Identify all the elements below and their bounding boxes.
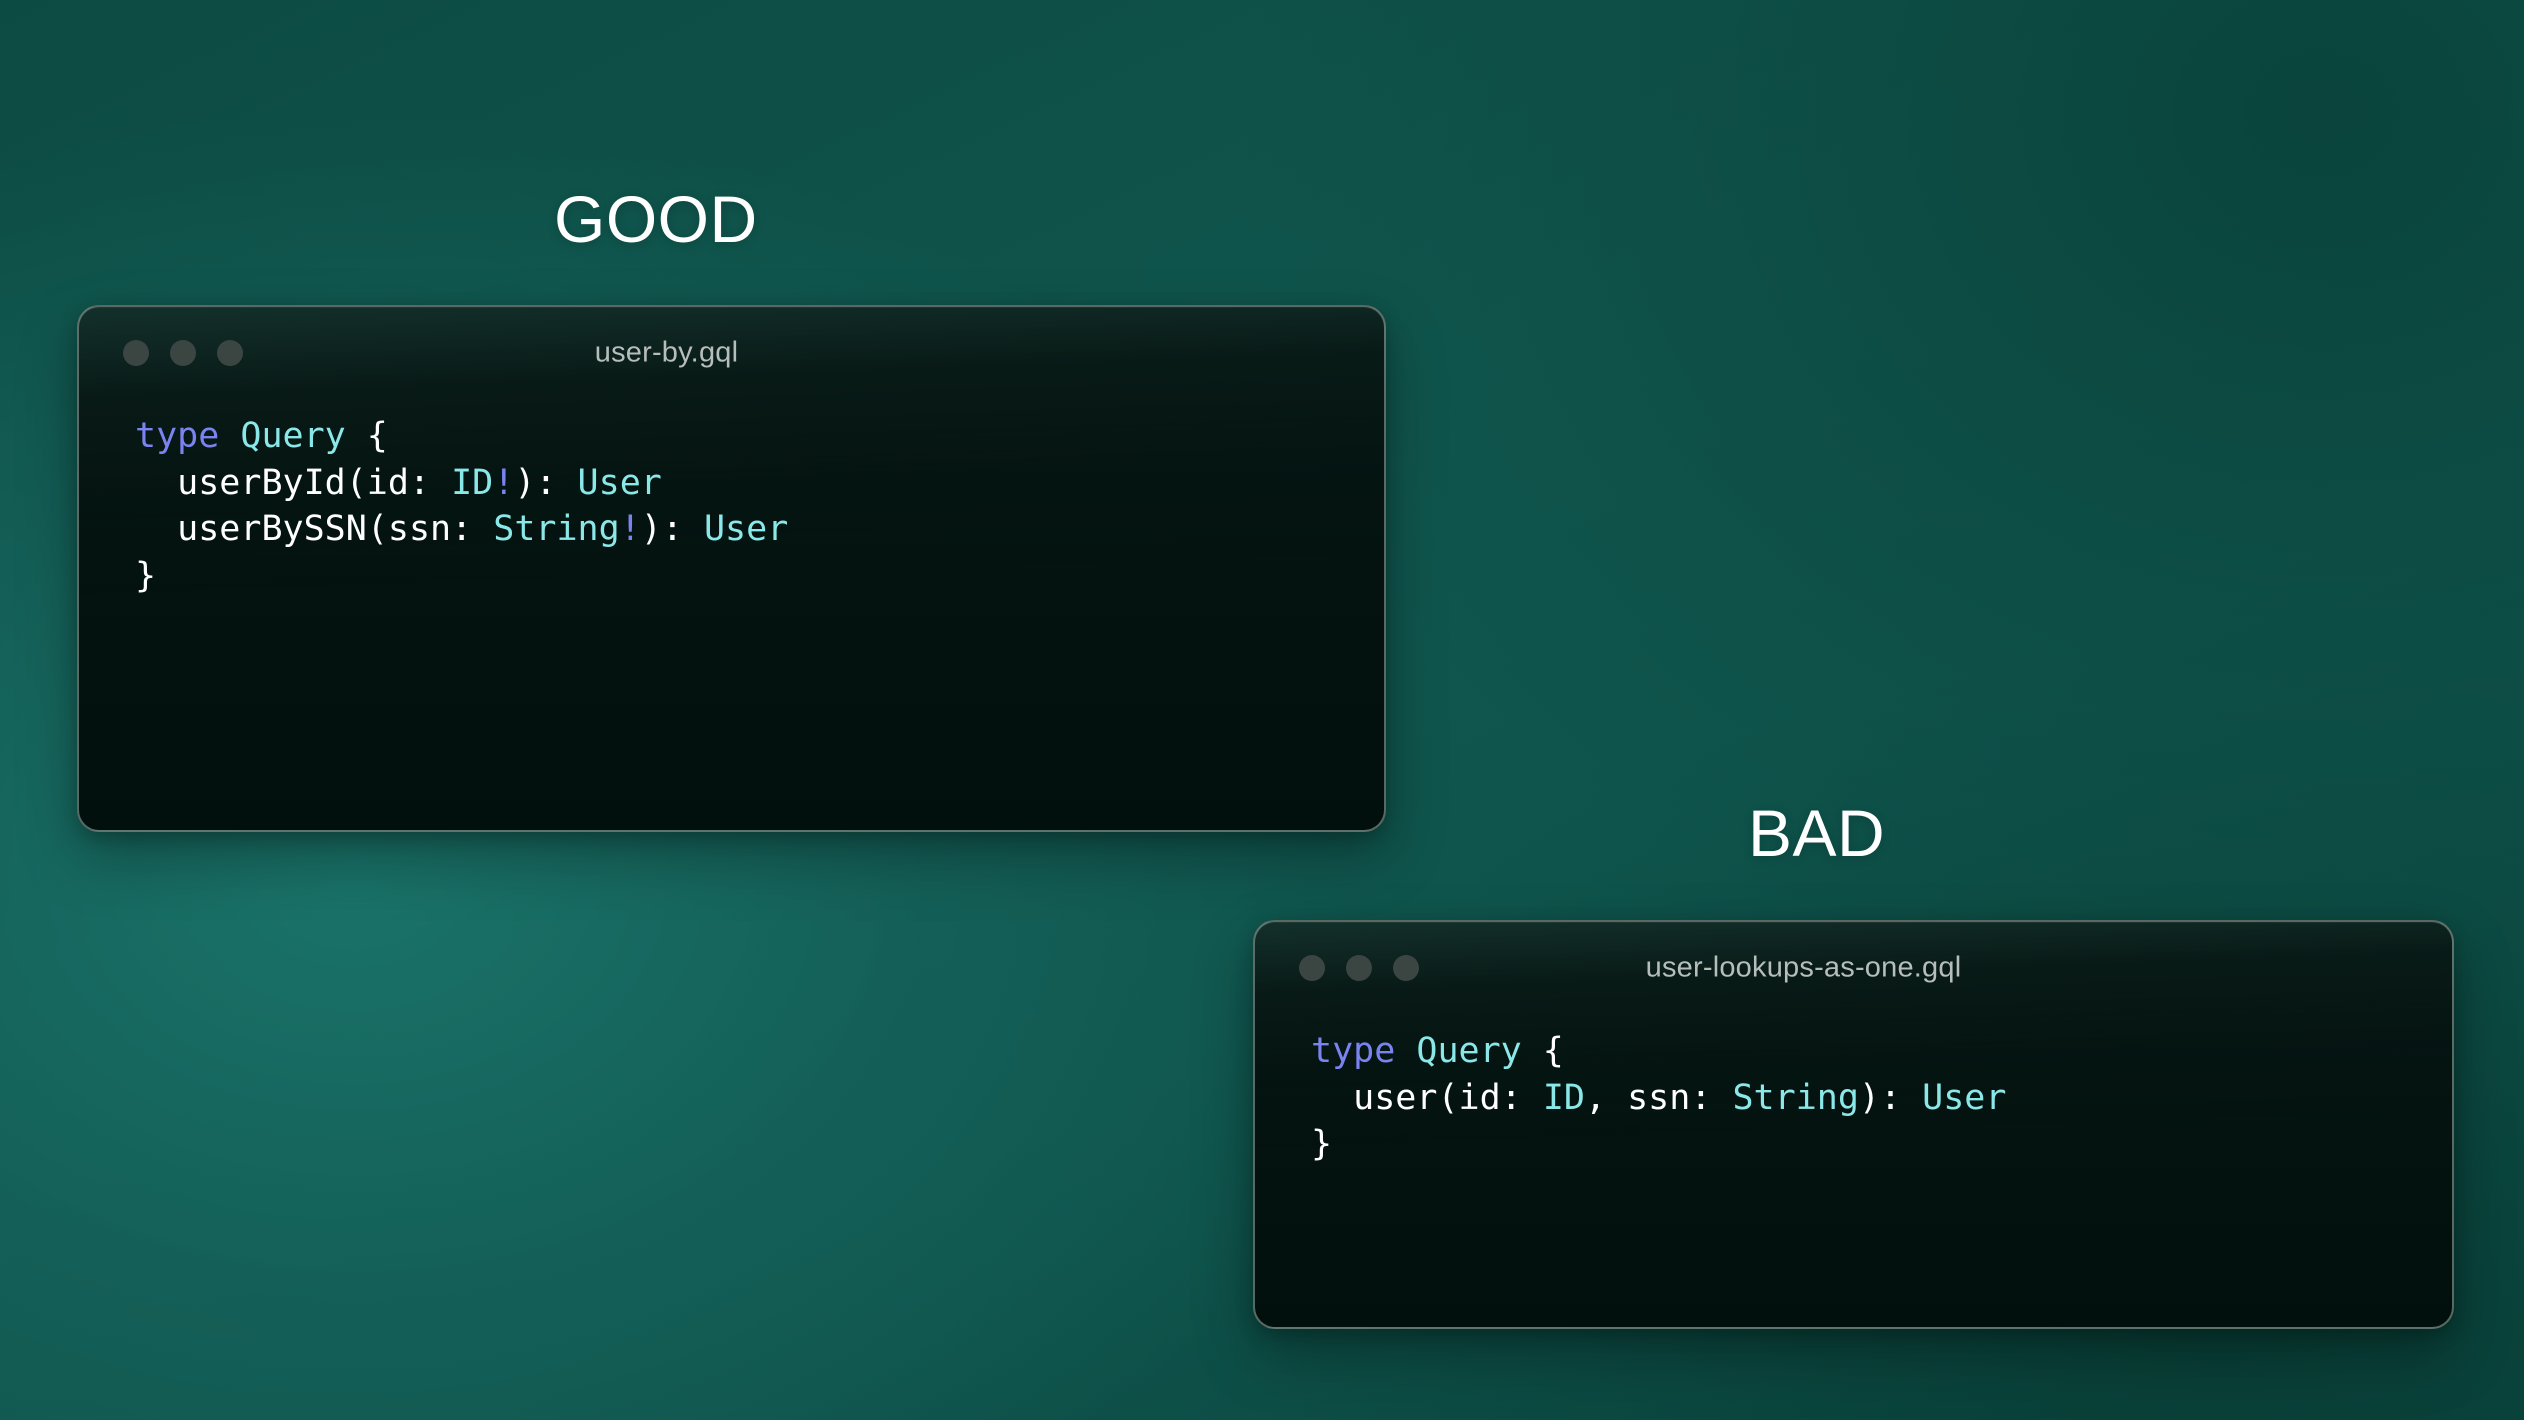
code-token-punct: { [1522, 1031, 1564, 1071]
code-token-identifier: userById [177, 463, 346, 503]
code-window-bad: user-lookups-as-one.gql type Query { use… [1253, 920, 2454, 1329]
code-token-punct: (ssn: [367, 509, 493, 549]
code-token-plain [135, 509, 177, 549]
code-token-plain [135, 463, 177, 503]
code-token-identifier: userBySSN [177, 509, 367, 549]
code-token-punct: { [346, 416, 388, 456]
code-token-bang: ! [493, 463, 514, 503]
code-token-type: ID [1543, 1078, 1585, 1118]
window-title-bad: user-lookups-as-one.gql [1255, 952, 2452, 985]
bad-example-label: BAD [1748, 800, 1885, 866]
code-token-punct: ): [1859, 1078, 1922, 1118]
code-token-type: String [493, 509, 619, 549]
code-token-punct: (id: [1437, 1078, 1542, 1118]
comparison-canvas: GOOD user-by.gql type Query { userById(i… [0, 0, 2524, 1420]
code-line: type Query { [1311, 1028, 2452, 1075]
code-token-type: Query [1416, 1031, 1521, 1071]
code-token-identifier: user [1353, 1078, 1437, 1118]
code-token-type: User [1922, 1078, 2006, 1118]
code-token-type: User [704, 509, 788, 549]
code-token-type: User [578, 463, 662, 503]
code-token-type: Query [240, 416, 345, 456]
code-block-good: type Query { userById(id: ID!): User use… [79, 399, 1384, 599]
code-window-good: user-by.gql type Query { userById(id: ID… [77, 305, 1386, 832]
code-line: user(id: ID, ssn: String): User [1311, 1075, 2452, 1122]
code-token-keyword: type [1311, 1031, 1395, 1071]
code-token-bang: ! [620, 509, 641, 549]
code-line: userBySSN(ssn: String!): User [135, 506, 1384, 553]
window-titlebar-bad: user-lookups-as-one.gql [1255, 922, 2452, 1014]
window-title-good: user-by.gql [79, 337, 1384, 370]
code-line: type Query { [135, 413, 1384, 460]
code-token-punct: , ssn: [1585, 1078, 1733, 1118]
code-token-plain [1395, 1031, 1416, 1071]
code-token-punct: (id: [346, 463, 451, 503]
code-token-type: String [1732, 1078, 1858, 1118]
code-token-punct: } [135, 556, 156, 596]
code-block-bad: type Query { user(id: ID, ssn: String): … [1255, 1014, 2452, 1168]
code-token-plain [1311, 1078, 1353, 1118]
good-example-label: GOOD [554, 186, 758, 252]
code-token-punct: ): [641, 509, 704, 549]
code-line: } [1311, 1121, 2452, 1168]
code-line: userById(id: ID!): User [135, 460, 1384, 507]
code-token-plain [219, 416, 240, 456]
code-token-type: ID [451, 463, 493, 503]
window-titlebar-good: user-by.gql [79, 307, 1384, 399]
code-line: } [135, 553, 1384, 600]
code-token-keyword: type [135, 416, 219, 456]
code-token-punct: ): [514, 463, 577, 503]
code-token-punct: } [1311, 1124, 1332, 1164]
